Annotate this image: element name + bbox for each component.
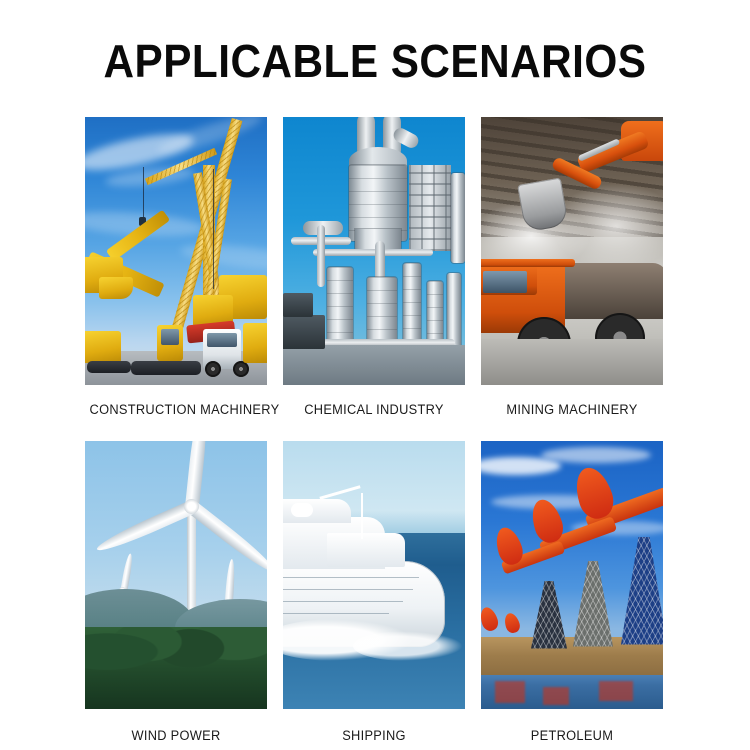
crane-cable — [213, 169, 214, 289]
applicable-scenarios-page: APPLICABLE SCENARIOS — [0, 0, 750, 750]
scenario-caption-wind-power: WIND POWER — [90, 709, 263, 750]
ship-deck-line — [283, 613, 389, 614]
crawler-track — [87, 361, 131, 373]
crawler-track — [131, 361, 201, 375]
wind-turbine-blade — [188, 501, 267, 576]
truck-window — [207, 333, 237, 347]
haul-truck-deck-rail — [481, 259, 575, 267]
scenario-card-wind-power[interactable]: WIND POWER — [85, 435, 267, 750]
ship-mast — [361, 493, 363, 539]
ship-bridge — [327, 533, 405, 567]
scenario-caption-mining-machinery: MINING MACHINERY — [486, 385, 659, 435]
pumpjack-tower — [573, 561, 613, 647]
plant-base — [283, 345, 465, 385]
scenario-card-mining-machinery[interactable]: MINING MACHINERY — [481, 117, 663, 435]
distant-pumpjack — [502, 611, 521, 634]
scenario-caption-chemical-industry: CHEMICAL INDUSTRY — [288, 385, 461, 435]
forest-canopy — [85, 627, 267, 709]
ship-deck-line — [283, 601, 403, 602]
quarry-ground — [481, 339, 663, 385]
ship-radar-array — [319, 485, 360, 499]
plant-building — [283, 293, 313, 317]
distant-pumpjack — [481, 605, 500, 633]
machinery-block — [243, 323, 267, 363]
plant-building — [283, 315, 325, 349]
scenario-image-petroleum[interactable] — [481, 441, 663, 709]
scenario-caption-shipping: SHIPPING — [288, 709, 461, 750]
scenario-card-petroleum[interactable]: PETROLEUM — [481, 435, 663, 750]
ship-funnel — [291, 503, 313, 517]
ship-deck-line — [283, 589, 413, 590]
tall-stack — [451, 173, 465, 263]
cooling-tower — [409, 165, 451, 251]
scenario-grid: CONSTRUCTION MACHINERY — [85, 117, 667, 750]
riser-pipe — [317, 225, 325, 287]
scenario-image-shipping[interactable] — [283, 441, 465, 709]
truck-tire — [233, 361, 249, 377]
pumpjack-reflection — [495, 681, 525, 703]
scenario-card-chemical-industry[interactable]: CHEMICAL INDUSTRY — [283, 117, 465, 435]
ship-deck-line — [283, 577, 419, 578]
page-title: APPLICABLE SCENARIOS — [30, 34, 720, 88]
pumpjack-reflection — [599, 681, 633, 701]
pumpjack-tower — [621, 537, 663, 645]
scenario-image-chemical-industry[interactable] — [283, 117, 465, 385]
scenario-card-construction-machinery[interactable]: CONSTRUCTION MACHINERY — [85, 117, 267, 435]
haul-truck-window — [483, 271, 527, 293]
cloud-shape — [541, 447, 651, 463]
wind-turbine-hub — [184, 499, 199, 514]
excavator-window — [161, 329, 179, 345]
bow-wake — [353, 631, 463, 661]
scenario-card-shipping[interactable]: SHIPPING — [283, 435, 465, 750]
scenario-image-construction-machinery[interactable] — [85, 117, 267, 385]
excavator-bucket — [99, 277, 133, 299]
scenario-image-wind-power[interactable] — [85, 441, 267, 709]
process-pipe — [313, 249, 433, 256]
wind-turbine-blade — [185, 441, 210, 508]
wind-turbine-blade — [94, 500, 195, 555]
scenario-caption-construction-machinery: CONSTRUCTION MACHINERY — [90, 385, 263, 435]
wheel-loader-body — [85, 331, 121, 363]
scenario-image-mining-machinery[interactable] — [481, 117, 663, 385]
pumpjack-tower — [531, 581, 567, 649]
truck-tire — [205, 361, 221, 377]
crane-cable — [143, 167, 144, 219]
pumpjack-reflection — [543, 687, 569, 705]
scenario-caption-petroleum: PETROLEUM — [486, 709, 659, 750]
